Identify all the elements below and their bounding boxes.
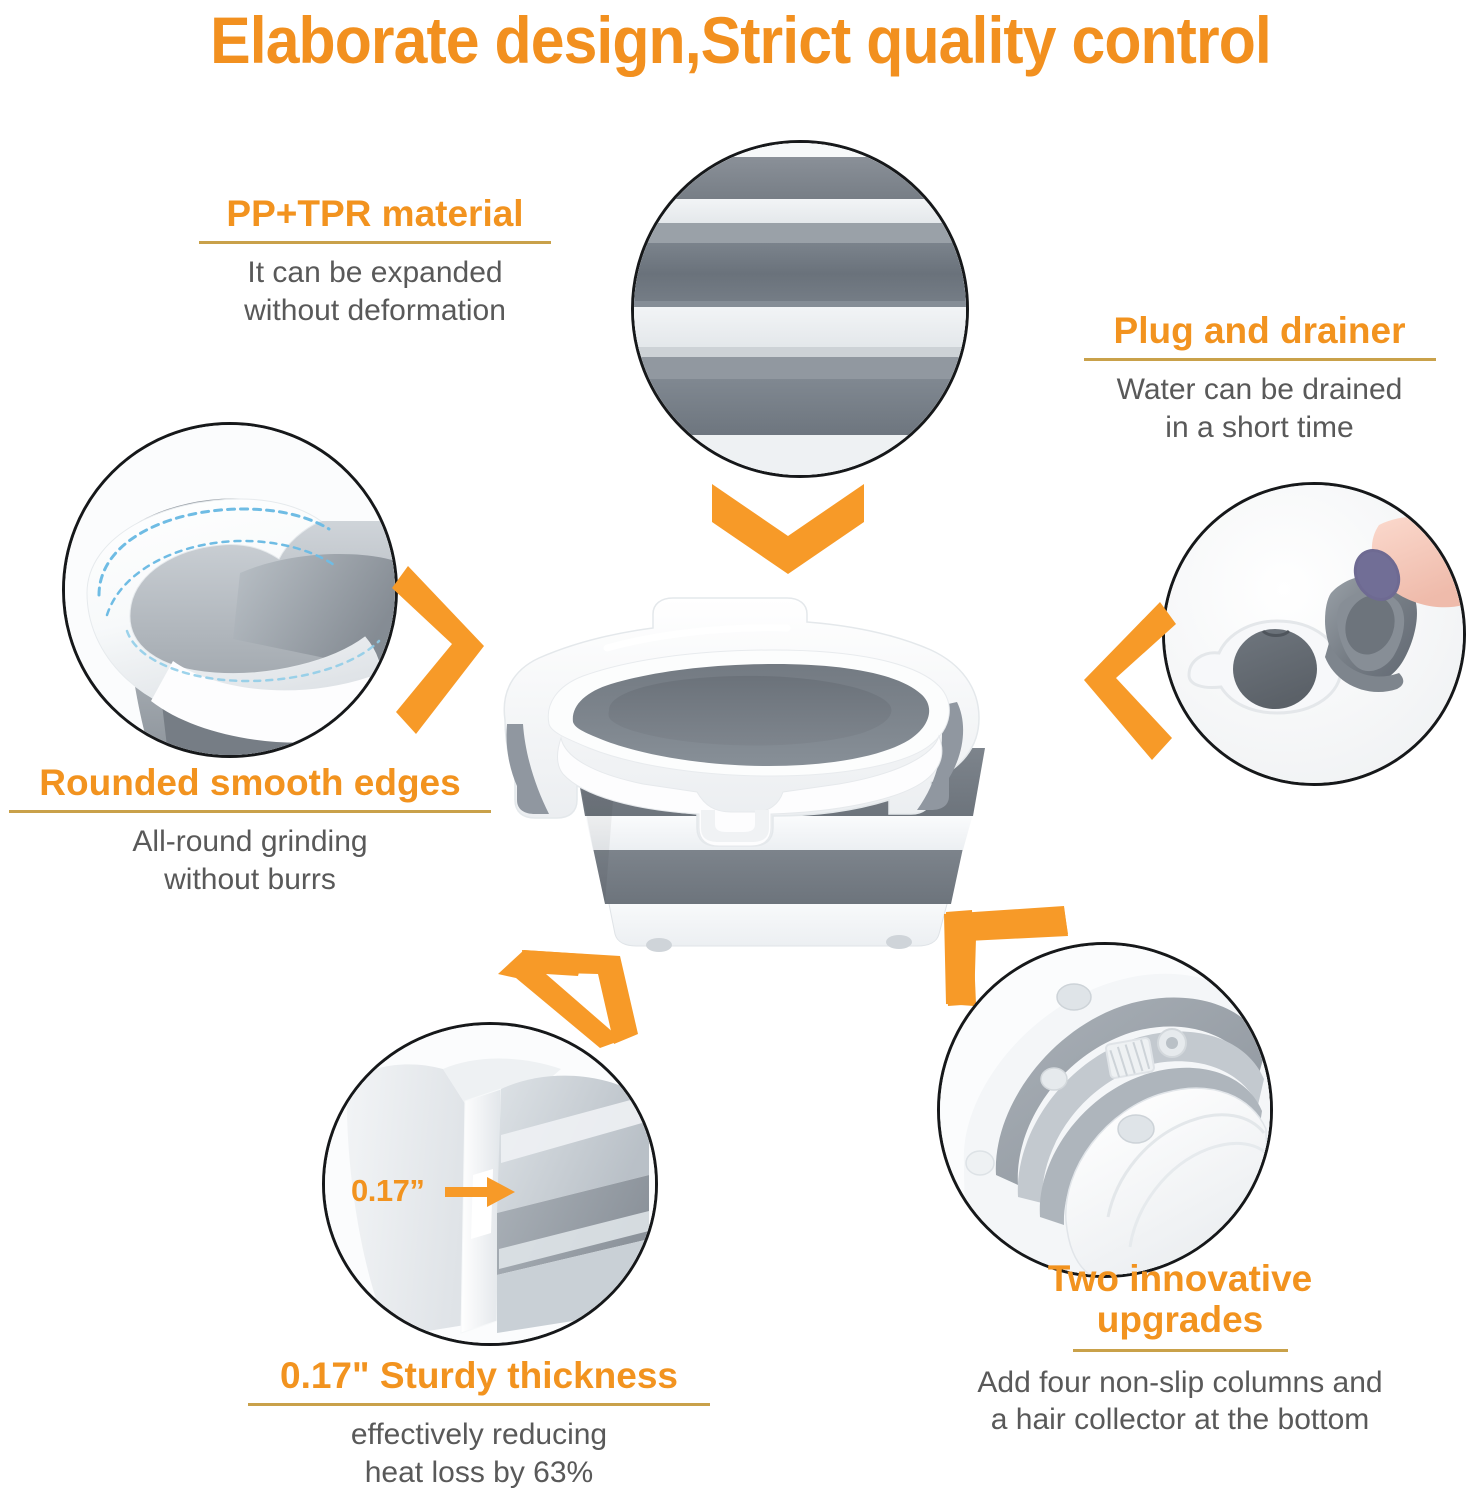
callout-thickness-body-line1: effectively reducing	[243, 1416, 715, 1453]
callout-upgrades-body-line2: a hair collector at the bottom	[910, 1401, 1450, 1438]
bubble-wall-thickness: 0.17”	[322, 1022, 658, 1346]
callout-upgrades-body-line1: Add four non-slip columns and	[910, 1364, 1450, 1401]
callout-edges-rule	[9, 810, 491, 813]
callout-plug: Plug and drainer Water can be drained in…	[1074, 310, 1445, 446]
callout-material-body-line1: It can be expanded	[186, 254, 564, 291]
thickness-arrow-icon	[445, 1175, 517, 1209]
striped-material-image	[634, 143, 966, 475]
callout-edges-body-line2: without burrs	[4, 861, 496, 898]
bubble-material-swatch	[631, 140, 969, 478]
callout-thickness-heading: 0.17" Sturdy thickness	[243, 1355, 715, 1396]
hair-collector	[1105, 1037, 1154, 1078]
callout-material-body-line2: without deformation	[186, 292, 564, 329]
callout-material-heading: PP+TPR material	[186, 193, 564, 234]
callout-upgrades-rule	[1073, 1349, 1288, 1352]
callout-upgrades: Two innovative upgrades Add four non-sli…	[910, 1258, 1450, 1438]
drain-screw	[1158, 1029, 1186, 1057]
callout-plug-heading: Plug and drainer	[1074, 310, 1445, 351]
callout-upgrades-heading-line2: upgrades	[910, 1299, 1450, 1340]
callout-thickness: 0.17" Sturdy thickness effectively reduc…	[243, 1355, 715, 1491]
plug-drainer-image	[1165, 485, 1463, 783]
callout-thickness-body-line2: heat loss by 63%	[243, 1454, 715, 1491]
callout-plug-body-line2: in a short time	[1074, 409, 1445, 446]
callout-plug-rule	[1084, 358, 1436, 361]
page-title: Elaborate design,Strict quality control	[59, 2, 1422, 78]
bubble-rounded-edge	[62, 422, 398, 758]
infographic-page: Elaborate design,Strict quality control	[0, 0, 1481, 1500]
chevron-right-icon	[392, 562, 492, 738]
arrow-right-left-side	[392, 562, 492, 738]
chevron-left-icon	[1076, 598, 1176, 764]
bubble-underside	[937, 942, 1273, 1278]
rounded-rim-image	[65, 425, 395, 755]
tub-underside-image	[940, 945, 1270, 1275]
callout-thickness-rule	[248, 1403, 710, 1406]
callout-edges-body-line1: All-round grinding	[4, 823, 496, 860]
bubble-plug-drainer	[1162, 482, 1466, 786]
thickness-measure-label: 0.17”	[351, 1173, 424, 1209]
callout-plug-body-line1: Water can be drained	[1074, 371, 1445, 408]
callout-material: PP+TPR material It can be expanded witho…	[186, 193, 564, 329]
callout-material-rule	[199, 241, 551, 244]
callout-upgrades-heading-line1: Two innovative	[910, 1258, 1450, 1299]
callout-edges: Rounded smooth edges All-round grinding …	[4, 762, 496, 898]
callout-edges-heading: Rounded smooth edges	[4, 762, 496, 803]
arrow-left-right-side	[1076, 598, 1176, 764]
